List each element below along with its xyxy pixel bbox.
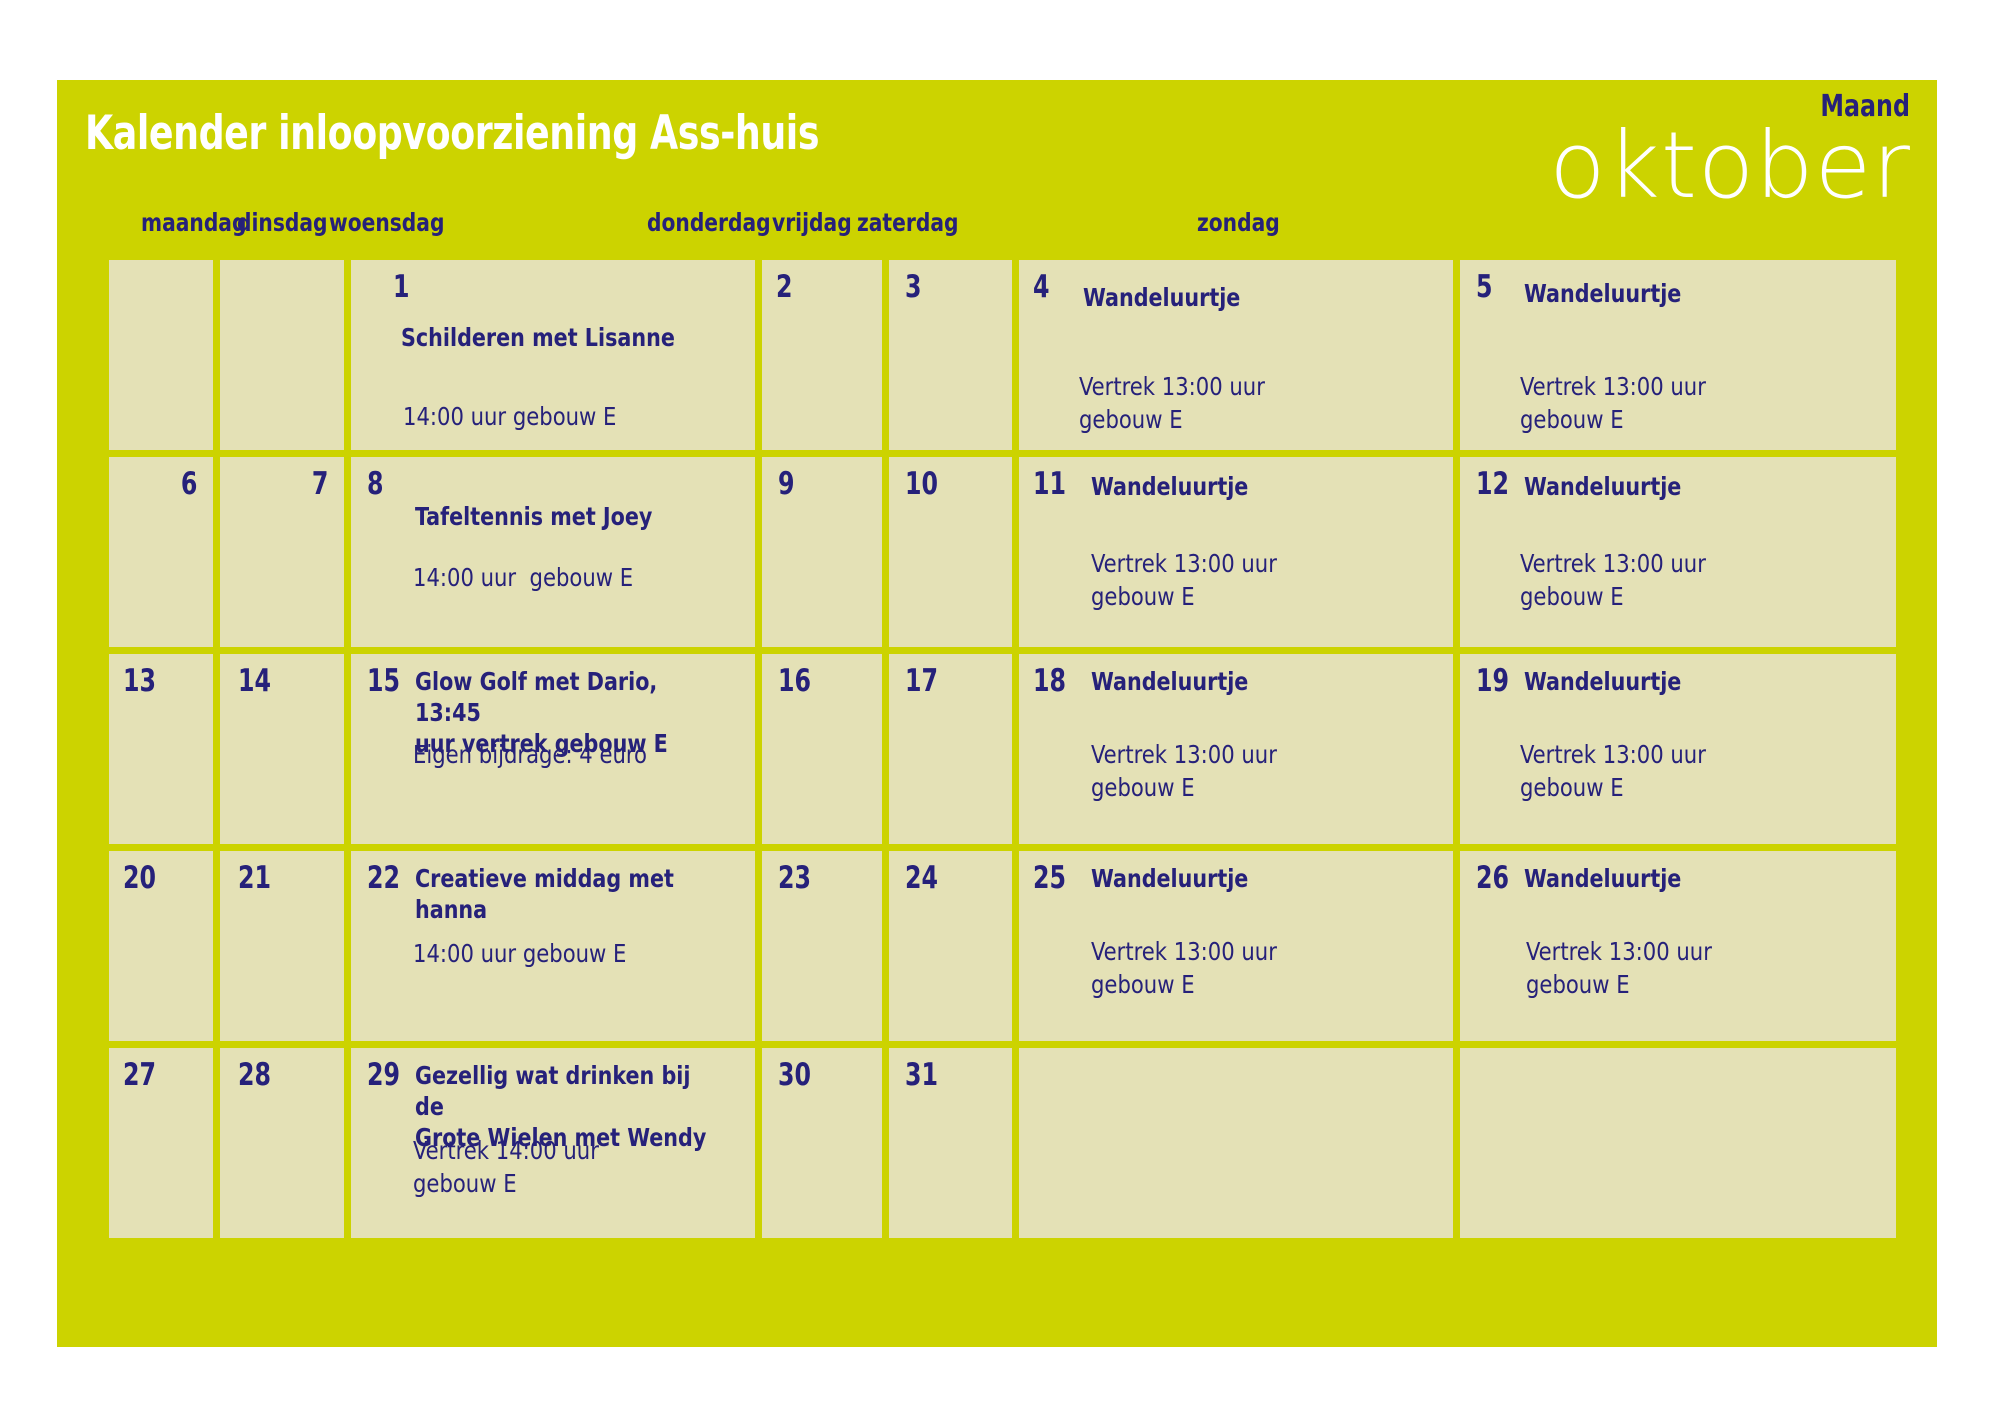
day-cell-12[interactable]: 12WandeluurtjeVertrek 13:00 uur gebouw E (1460, 457, 1896, 647)
day-number: 1 (393, 272, 409, 303)
day-number: 12 (1476, 469, 1509, 500)
calendar-page: Kalender inloopvoorziening Ass-huis Maan… (0, 0, 2000, 1414)
event-detail: 14:00 uur gebouw E (413, 937, 727, 970)
month-block: Maand oktober (1357, 80, 1917, 210)
day-cell-27[interactable]: 27 (109, 1048, 213, 1238)
maand-label: Maand (1424, 80, 1917, 122)
event-title: Wandeluurtje (1524, 863, 1859, 894)
day-cell-empty[interactable] (109, 260, 213, 450)
event-detail: Vertrek 13:00 uur gebouw E (1091, 935, 1424, 1001)
day-cell-empty[interactable] (1019, 1048, 1453, 1238)
day-number: 30 (778, 1060, 811, 1091)
event-title: Wandeluurtje (1524, 666, 1859, 697)
event-detail: Vertrek 13:00 uur gebouw E (1526, 935, 1866, 1001)
day-cell-empty[interactable] (220, 260, 344, 450)
day-number: 5 (1476, 272, 1492, 303)
day-cell-3[interactable]: 3 (889, 260, 1012, 450)
day-number: 29 (367, 1060, 400, 1091)
day-cell-21[interactable]: 21 (220, 851, 344, 1041)
day-number: 31 (905, 1060, 938, 1091)
day-cell-26[interactable]: 26WandeluurtjeVertrek 13:00 uur gebouw E (1460, 851, 1896, 1041)
calendar-panel: Kalender inloopvoorziening Ass-huis Maan… (57, 80, 1937, 1347)
day-number: 13 (123, 666, 156, 697)
month-name: oktober (1357, 122, 1917, 210)
day-number: 3 (905, 272, 921, 303)
weekday-header-woensdag: woensdag (329, 208, 444, 237)
day-cell-25[interactable]: 25WandeluurtjeVertrek 13:00 uur gebouw E (1019, 851, 1453, 1041)
event-detail: Vertrek 13:00 uur gebouw E (1091, 547, 1424, 613)
day-number: 6 (181, 469, 197, 500)
day-cell-7[interactable]: 7 (220, 457, 344, 647)
event-detail: Vertrek 13:00 uur gebouw E (1520, 370, 1866, 436)
day-cell-18[interactable]: 18WandeluurtjeVertrek 13:00 uur gebouw E (1019, 654, 1453, 844)
event-title: Wandeluurtje (1524, 471, 1859, 502)
weekday-header-donderdag: donderdag (647, 208, 771, 237)
weekday-header-dinsdag: dinsdag (237, 208, 328, 237)
day-number: 17 (905, 666, 938, 697)
day-number: 23 (778, 863, 811, 894)
day-cell-19[interactable]: 19WandeluurtjeVertrek 13:00 uur gebouw E (1460, 654, 1896, 844)
page-title: Kalender inloopvoorziening Ass-huis (85, 106, 819, 161)
event-title: Wandeluurtje (1083, 282, 1416, 313)
day-number: 22 (367, 863, 400, 894)
day-cell-2[interactable]: 2 (762, 260, 882, 450)
weekday-header-vrijdag: vrijdag (772, 208, 852, 237)
day-number: 28 (238, 1060, 271, 1091)
event-title: Wandeluurtje (1091, 863, 1417, 894)
day-number: 18 (1033, 666, 1066, 697)
event-title: Wandeluurtje (1524, 278, 1859, 309)
day-number: 8 (367, 469, 383, 500)
event-title: Schilderen met Lisanne (401, 322, 719, 353)
day-cell-16[interactable]: 16 (762, 654, 882, 844)
day-number: 9 (778, 469, 794, 500)
day-cell-1[interactable]: 1Schilderen met Lisanne14:00 uur gebouw … (351, 260, 755, 450)
day-cell-13[interactable]: 13 (109, 654, 213, 844)
event-detail: 14:00 uur gebouw E (413, 561, 727, 594)
event-detail: Vertrek 14:00 uur gebouw E (413, 1134, 727, 1200)
event-detail: Vertrek 13:00 uur gebouw E (1079, 370, 1423, 436)
day-cell-empty[interactable] (1460, 1048, 1896, 1238)
day-number: 11 (1033, 469, 1066, 500)
day-number: 14 (238, 666, 271, 697)
day-cell-4[interactable]: 4WandeluurtjeVertrek 13:00 uur gebouw E (1019, 260, 1453, 450)
event-detail: Vertrek 13:00 uur gebouw E (1520, 547, 1866, 613)
day-number: 24 (905, 863, 938, 894)
calendar-grid: 1Schilderen met Lisanne14:00 uur gebouw … (109, 260, 1934, 1238)
day-number: 10 (905, 469, 938, 500)
weekday-header-zaterdag: zaterdag (857, 208, 958, 237)
day-cell-29[interactable]: 29Gezellig wat drinken bij de Grote Wiel… (351, 1048, 755, 1238)
day-cell-24[interactable]: 24 (889, 851, 1012, 1041)
day-number: 7 (312, 469, 328, 500)
day-number: 26 (1476, 863, 1509, 894)
event-title: Tafeltennis met Joey (415, 501, 720, 532)
day-number: 25 (1033, 863, 1066, 894)
day-number: 16 (778, 666, 811, 697)
day-cell-14[interactable]: 14 (220, 654, 344, 844)
event-detail: Vertrek 13:00 uur gebouw E (1091, 738, 1424, 804)
weekday-header-zondag: zondag (1197, 208, 1280, 237)
event-title: Creatieve middag met hanna (415, 863, 720, 925)
day-number: 27 (123, 1060, 156, 1091)
day-cell-22[interactable]: 22Creatieve middag met hanna14:00 uur ge… (351, 851, 755, 1041)
day-number: 15 (367, 666, 400, 697)
day-cell-17[interactable]: 17 (889, 654, 1012, 844)
day-cell-15[interactable]: 15Glow Golf met Dario, 13:45 uur vertrek… (351, 654, 755, 844)
day-cell-5[interactable]: 5WandeluurtjeVertrek 13:00 uur gebouw E (1460, 260, 1896, 450)
day-cell-30[interactable]: 30 (762, 1048, 882, 1238)
day-number: 4 (1033, 272, 1049, 303)
weekday-header-maandag: maandag (141, 208, 246, 237)
day-number: 19 (1476, 666, 1509, 697)
day-cell-20[interactable]: 20 (109, 851, 213, 1041)
day-cell-9[interactable]: 9 (762, 457, 882, 647)
day-cell-11[interactable]: 11WandeluurtjeVertrek 13:00 uur gebouw E (1019, 457, 1453, 647)
weekday-header-row: maandagdinsdagwoensdagdonderdagvrijdagza… (57, 208, 1937, 246)
day-cell-23[interactable]: 23 (762, 851, 882, 1041)
day-cell-6[interactable]: 6 (109, 457, 213, 647)
event-detail: 14:00 uur gebouw E (403, 400, 726, 433)
day-number: 2 (776, 272, 792, 303)
event-title: Wandeluurtje (1091, 471, 1417, 502)
day-cell-10[interactable]: 10 (889, 457, 1012, 647)
day-cell-28[interactable]: 28 (220, 1048, 344, 1238)
day-number: 21 (238, 863, 271, 894)
day-cell-31[interactable]: 31 (889, 1048, 1012, 1238)
event-title: Wandeluurtje (1091, 666, 1417, 697)
event-detail: Vertrek 13:00 uur gebouw E (1520, 738, 1866, 804)
day-number: 20 (123, 863, 156, 894)
day-cell-8[interactable]: 8Tafeltennis met Joey14:00 uur gebouw E (351, 457, 755, 647)
event-detail: Eigen bijdrage: 4 euro (413, 738, 727, 771)
